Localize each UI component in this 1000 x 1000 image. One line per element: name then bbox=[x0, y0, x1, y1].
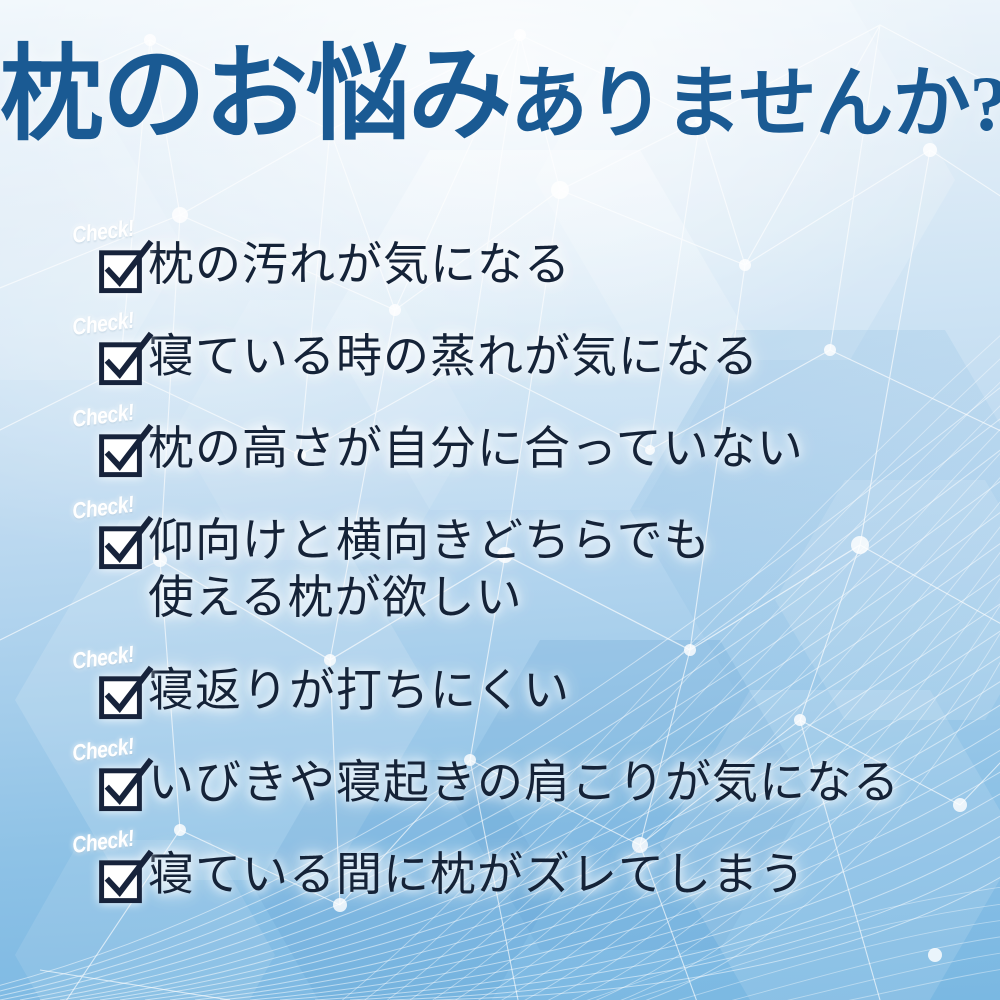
checklist-item-text: 寝返りが打ちにくい bbox=[148, 652, 570, 719]
check-badge-group: Check! bbox=[72, 652, 148, 722]
checkbox-checked-icon[interactable] bbox=[98, 242, 152, 296]
checkbox-checked-icon[interactable] bbox=[98, 426, 152, 480]
checkbox-checked-icon[interactable] bbox=[98, 852, 152, 906]
checklist-item[interactable]: Check! 仰向けと横向きどちらでも 使える枕が欲しい bbox=[72, 502, 972, 626]
check-badge-group: Check! bbox=[72, 836, 148, 906]
checklist-item[interactable]: Check! いびきや寝起きの肩こりが気になる bbox=[72, 744, 972, 814]
checkbox-checked-icon[interactable] bbox=[98, 334, 152, 388]
checklist-item-text-multiline: 仰向けと横向きどちらでも 使える枕が欲しい bbox=[148, 502, 711, 626]
checkbox-checked-icon[interactable] bbox=[98, 518, 152, 572]
page-title-main: 枕のお悩み bbox=[0, 38, 510, 153]
checklist-item[interactable]: Check! 枕の汚れが気になる bbox=[72, 226, 972, 296]
checklist-item[interactable]: Check! 枕の高さが自分に合っていない bbox=[72, 410, 972, 480]
checklist-item[interactable]: Check! 寝返りが打ちにくい bbox=[72, 652, 972, 722]
page-title-sub: ありませんか? bbox=[510, 60, 1000, 147]
checklist-item[interactable]: Check! 寝ている時の蒸れが気になる bbox=[72, 318, 972, 388]
checklist-item-text: 枕の汚れが気になる bbox=[148, 226, 571, 293]
checklist-item-line: 仰向けと横向きどちらでも bbox=[148, 515, 711, 566]
checklist-item-text: いびきや寝起きの肩こりが気になる bbox=[148, 744, 900, 811]
check-badge-group: Check! bbox=[72, 502, 148, 572]
check-badge-group: Check! bbox=[72, 410, 148, 480]
checklist-item-line: 使える枕が欲しい bbox=[148, 569, 711, 626]
poster-canvas: 枕のお悩みありませんか? Check! 枕の汚れが気になる Check! bbox=[0, 0, 1000, 1000]
check-badge-group: Check! bbox=[72, 744, 148, 814]
checklist: Check! 枕の汚れが気になる Check! 寝ている時の蒸れが気になる bbox=[72, 226, 972, 928]
check-badge-group: Check! bbox=[72, 318, 148, 388]
page-title: 枕のお悩みありませんか? bbox=[0, 44, 1000, 148]
check-badge-group: Check! bbox=[72, 226, 148, 296]
checklist-item-text: 寝ている間に枕がズレてしまう bbox=[148, 836, 806, 903]
checklist-item-text: 枕の高さが自分に合っていない bbox=[148, 410, 804, 477]
checklist-item-text: 寝ている時の蒸れが気になる bbox=[148, 318, 759, 385]
checklist-item[interactable]: Check! 寝ている間に枕がズレてしまう bbox=[72, 836, 972, 906]
checkbox-checked-icon[interactable] bbox=[98, 668, 152, 722]
checkbox-checked-icon[interactable] bbox=[98, 760, 152, 814]
